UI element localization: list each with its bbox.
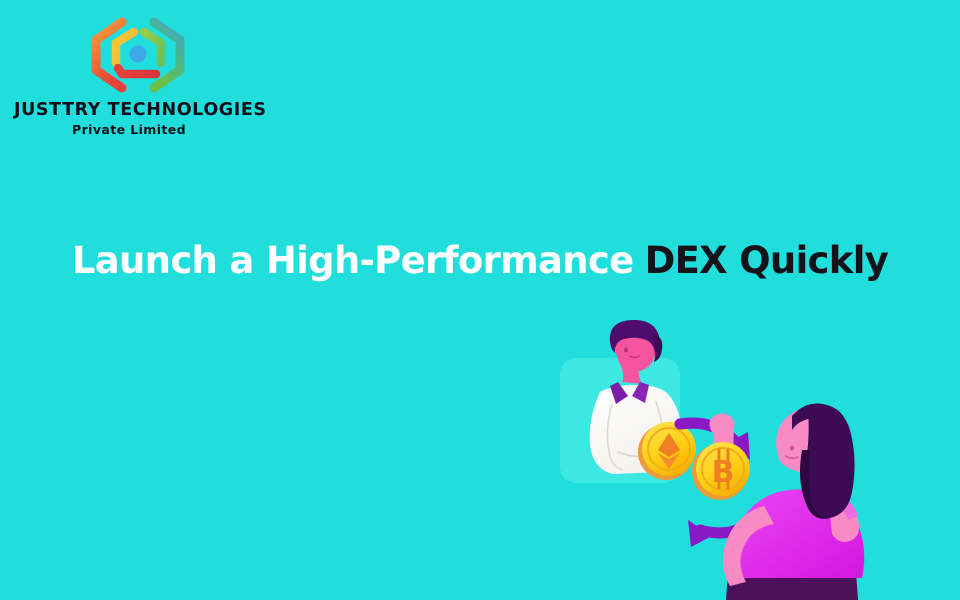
bitcoin-coin: B — [692, 442, 750, 500]
page-title: Launch a High-PerformanceDEX Quickly — [0, 241, 960, 282]
justtry-hexagon-logo-icon — [82, 16, 194, 94]
woman-with-bitcoin-coin — [705, 404, 864, 600]
crypto-exchange-illustration: B — [540, 320, 960, 600]
headline-primary: Launch a High-Performance — [72, 239, 634, 282]
logo-company-suffix: Private Limited — [14, 122, 244, 137]
bitcoin-glyph: B — [712, 455, 735, 490]
logo-company-name: JUSTTRY TECHNOLOGIES — [14, 100, 244, 120]
promo-banner: JUSTTRY TECHNOLOGIES Private Limited Lau… — [0, 0, 960, 600]
headline-emphasis: DEX Quickly — [645, 239, 889, 282]
company-logo[interactable]: JUSTTRY TECHNOLOGIES Private Limited — [14, 14, 244, 126]
